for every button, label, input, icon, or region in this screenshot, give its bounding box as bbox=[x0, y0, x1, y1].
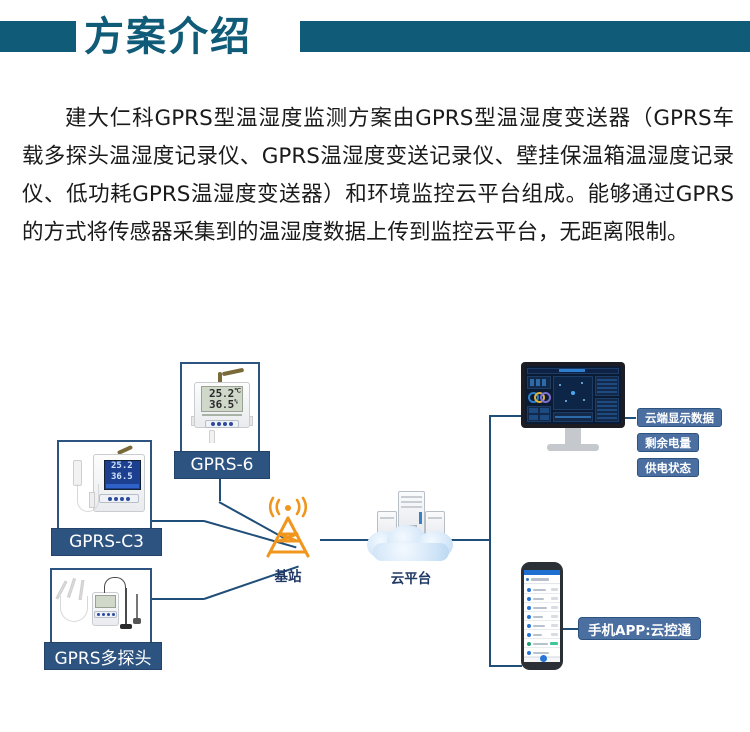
line-trunk-to-phone bbox=[489, 665, 522, 667]
smartphone-icon bbox=[521, 562, 563, 670]
page-root: 方案介绍 建大仁科GPRS型温湿度监测方案由GPRS型温湿度变送器（GPRS车载… bbox=[0, 0, 750, 732]
solution-topology-diagram: 25.2℃ 36.5% GPRS-6 25.2 36.5 bbox=[0, 345, 750, 690]
caption-cloud-platform: 云平台 bbox=[365, 567, 457, 587]
header-bar-right bbox=[300, 21, 750, 52]
line-c3-right bbox=[152, 520, 204, 522]
tag-battery-remaining[interactable]: 剩余电量 bbox=[637, 433, 699, 452]
header-bar-left bbox=[0, 21, 76, 52]
cell-tower-icon bbox=[252, 490, 324, 560]
device-card-gprs6[interactable]: 25.2℃ 36.5% GPRS-6 bbox=[180, 362, 260, 475]
page-title: 方案介绍 bbox=[84, 10, 252, 64]
device-label-gprs6: GPRS-6 bbox=[174, 451, 270, 479]
intro-paragraph: 建大仁科GPRS型温湿度监测方案由GPRS型温湿度变送器（GPRS车载多探头温湿… bbox=[22, 100, 734, 252]
caption-base-station: 基站 bbox=[252, 565, 324, 585]
cloud-server-icon bbox=[365, 485, 457, 563]
line-monitor-to-tags bbox=[624, 417, 636, 419]
line-right-trunk bbox=[489, 415, 491, 667]
tag-mobile-app[interactable]: 手机APP:云控通 bbox=[578, 617, 701, 640]
desktop-monitor-icon bbox=[521, 362, 625, 454]
page-header: 方案介绍 bbox=[0, 14, 750, 60]
device-card-multiprobe[interactable]: GPRS多探头 bbox=[50, 568, 152, 666]
line-trunk-to-monitor bbox=[489, 415, 521, 417]
device-label-gprs-c3: GPRS-C3 bbox=[51, 528, 162, 556]
tag-power-status[interactable]: 供电状态 bbox=[637, 458, 699, 477]
device-card-gprs-c3[interactable]: 25.2 36.5 GPRS-C3 bbox=[57, 440, 152, 552]
tag-cloud-display-data[interactable]: 云端显示数据 bbox=[637, 408, 722, 427]
multi-probe-recorder-icon bbox=[52, 570, 150, 634]
device-label-multiprobe: GPRS多探头 bbox=[44, 642, 162, 670]
line-multiprobe-right bbox=[152, 598, 204, 600]
temp-humidity-transmitter-icon: 25.2℃ 36.5% bbox=[182, 364, 258, 443]
temp-humidity-recorder-icon: 25.2 36.5 bbox=[59, 442, 150, 520]
